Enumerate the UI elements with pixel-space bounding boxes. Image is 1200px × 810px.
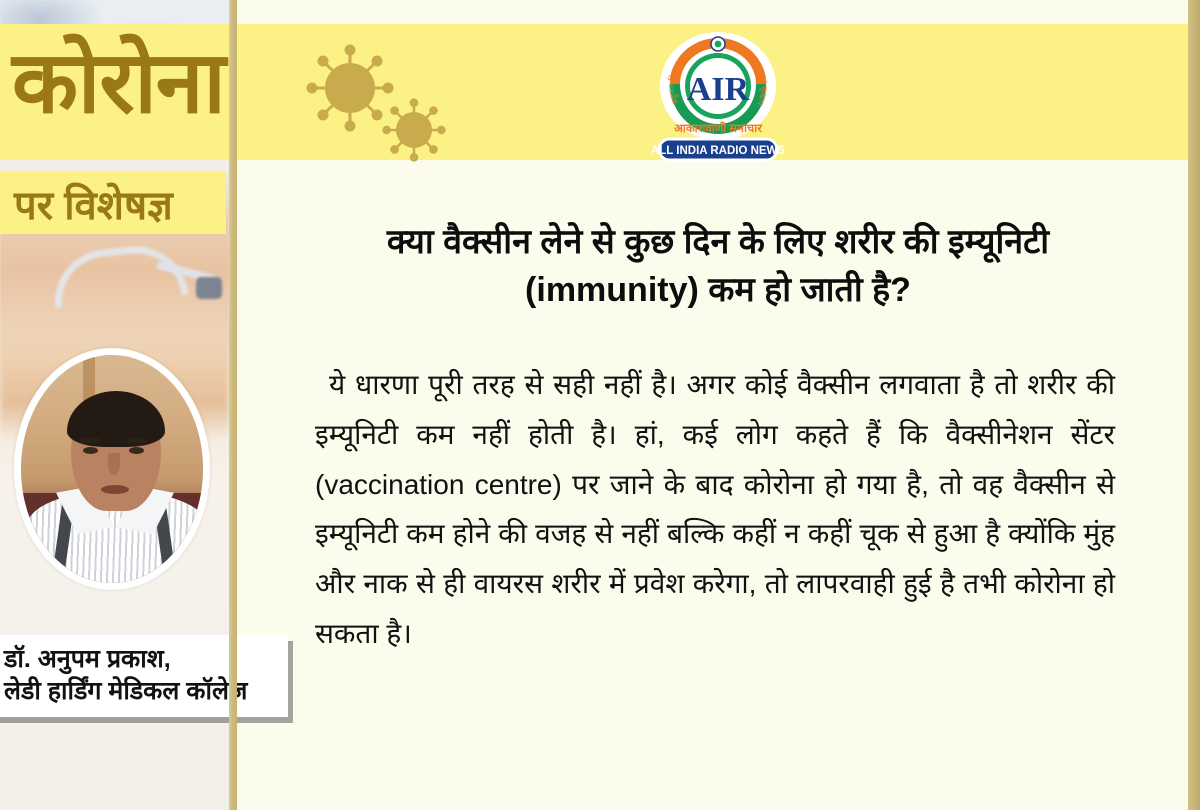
panel-divider-right	[1188, 0, 1200, 810]
portrait-eye-left	[83, 447, 98, 454]
portrait-eyebrow-right	[127, 438, 147, 443]
header-subtitle: पर विशेषज्ञ	[0, 176, 173, 231]
panel-divider-left	[229, 0, 237, 810]
stethoscope-bell-icon	[196, 277, 222, 299]
doctor-portrait	[14, 348, 210, 590]
air-logo: AIR बहुजन हिताय बहुजन सुखाय आकाशवाणी समा…	[652, 28, 784, 162]
main-content: क्या वैक्सीन लेने से कुछ दिन के लिए शरीर…	[237, 160, 1188, 810]
question-heading: क्या वैक्सीन लेने से कुछ दिन के लिए शरीर…	[313, 218, 1123, 315]
coronavirus-icon-small	[378, 94, 450, 166]
expert-caption: डॉ. अनुपम प्रकाश, लेडी हार्डिंग मेडिकल क…	[0, 635, 288, 717]
poster-root: डॉ. अनुपम प्रकाश, लेडी हार्डिंग मेडिकल क…	[0, 0, 1200, 810]
portrait-nose	[108, 453, 120, 475]
portrait-eyebrow-left	[80, 438, 100, 443]
portrait-eye-right	[129, 447, 144, 454]
header-subtitle-band: पर विशेषज्ञ	[0, 172, 226, 234]
air-logo-hindi-name: आकाशवाणी समाचार	[674, 121, 763, 135]
air-logo-english-name: ALL INDIA RADIO NEWS	[652, 145, 784, 157]
portrait-mouth	[101, 485, 129, 494]
answer-body: ये धारणा पूरी तरह से सही नहीं है। अगर को…	[315, 360, 1115, 659]
page-title: कोरोना	[12, 40, 225, 126]
air-logo-monogram: AIR	[687, 71, 750, 108]
header-banner: कोरोना	[0, 24, 1191, 160]
